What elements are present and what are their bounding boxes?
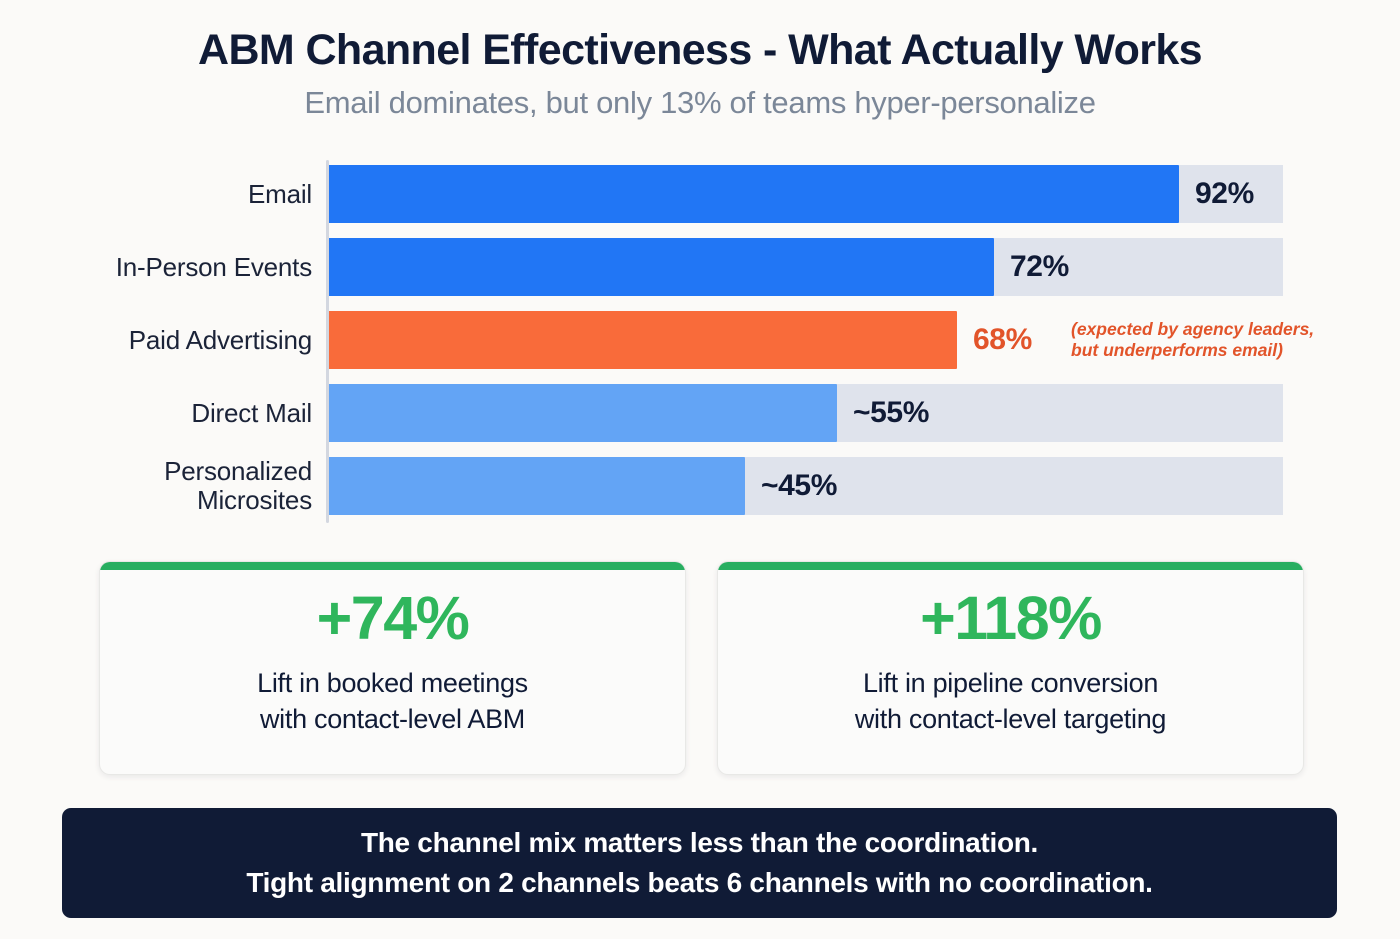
bar-row: Direct Mail~55% [0, 384, 1400, 442]
bar-value-label: 92% [1195, 165, 1254, 223]
banner-line-1: The channel mix matters less than the co… [361, 823, 1038, 863]
bar-fill [329, 238, 994, 296]
bar-fill [329, 457, 745, 515]
chart-header: ABM Channel Effectiveness - What Actuall… [0, 0, 1400, 121]
stat-cards-container: +74%Lift in booked meetings with contact… [99, 561, 1304, 775]
bar-row: In-Person Events72% [0, 238, 1400, 296]
bar-row: Paid Advertising68%(expected by agency l… [0, 311, 1400, 369]
stat-card-accent-bar [100, 562, 685, 570]
stat-card-value: +118% [718, 588, 1303, 649]
stat-card-value: +74% [100, 588, 685, 649]
bar-value-label: ~45% [761, 457, 837, 515]
bar-annotation: (expected by agency leaders,but underper… [1071, 311, 1314, 369]
banner-line-2: Tight alignment on 2 channels beats 6 ch… [246, 863, 1152, 903]
bar-category-label: Paid Advertising [0, 311, 312, 369]
bar-fill [329, 311, 957, 369]
bar-category-label: Direct Mail [0, 384, 312, 442]
page-title: ABM Channel Effectiveness - What Actuall… [0, 26, 1400, 74]
bar-value-label: 68% [973, 311, 1032, 369]
bar-annotation-line-2: but underperforms email) [1071, 340, 1314, 361]
stat-card: +118%Lift in pipeline conversion with co… [717, 561, 1304, 775]
bar-category-label: Personalized Microsites [0, 457, 312, 515]
bar-value-label: ~55% [853, 384, 929, 442]
bar-annotation-line-1: (expected by agency leaders, [1071, 319, 1314, 340]
bar-fill [329, 384, 837, 442]
bar-fill [329, 165, 1179, 223]
stat-card-description: Lift in pipeline conversion with contact… [718, 665, 1303, 738]
takeaway-banner: The channel mix matters less than the co… [62, 808, 1337, 918]
stat-card-accent-bar [718, 562, 1303, 570]
bar-value-label: 72% [1010, 238, 1069, 296]
bar-category-label: In-Person Events [0, 238, 312, 296]
stat-card: +74%Lift in booked meetings with contact… [99, 561, 686, 775]
bar-category-label: Email [0, 165, 312, 223]
bar-chart: Email92%In-Person Events72%Paid Advertis… [0, 155, 1400, 530]
stat-card-description: Lift in booked meetings with contact-lev… [100, 665, 685, 738]
page-subtitle: Email dominates, but only 13% of teams h… [0, 84, 1400, 121]
bar-row: Email92% [0, 165, 1400, 223]
bar-row: Personalized Microsites~45% [0, 457, 1400, 515]
